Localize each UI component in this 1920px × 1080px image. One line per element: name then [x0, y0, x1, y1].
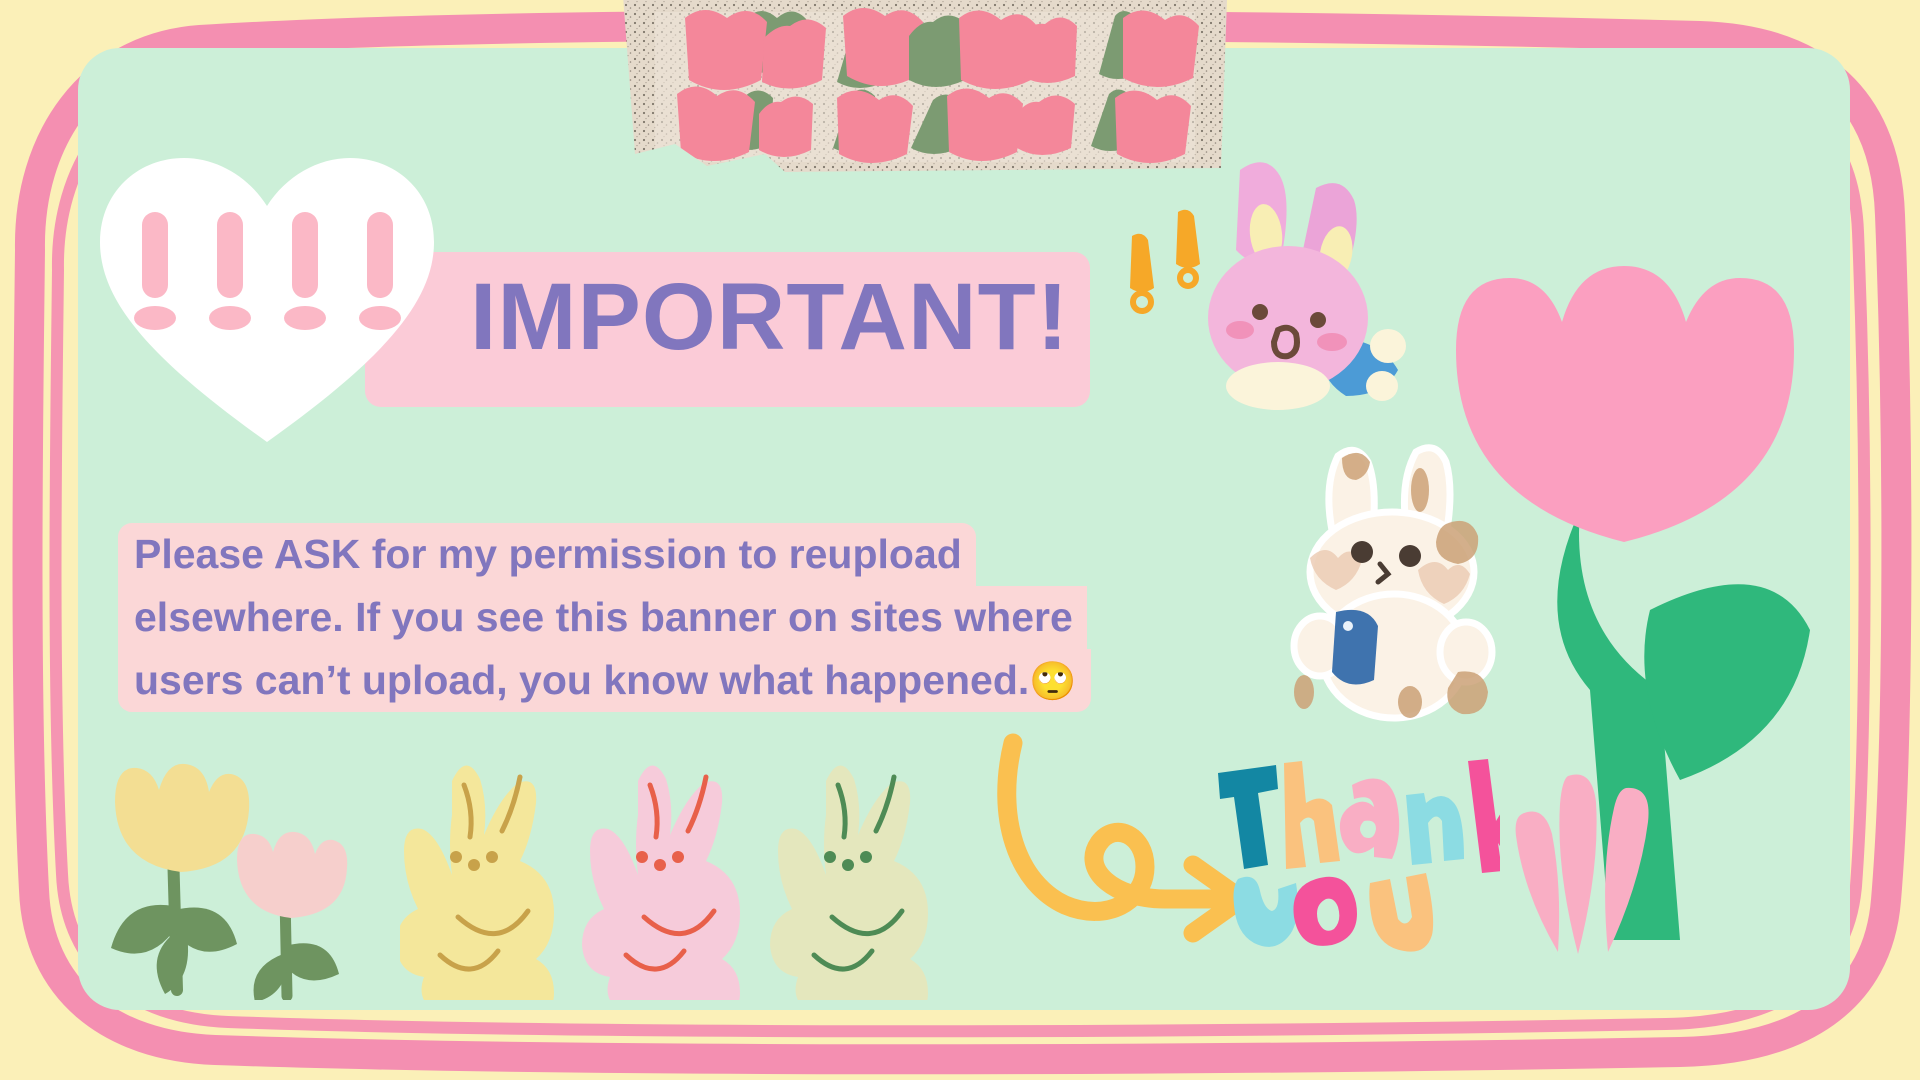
message-line-3-text: users can’t upload, you know what happen…: [134, 657, 1029, 703]
letter-a: [1340, 779, 1399, 859]
letter-o: [1293, 877, 1357, 946]
message-line-2: elsewhere. If you see this banner on sit…: [118, 586, 1087, 649]
bunny-cookie-green: [770, 765, 928, 1000]
letter-u: [1369, 873, 1433, 952]
permission-message: Please ASK for my permission to reupload…: [118, 523, 1148, 712]
message-line-1: Please ASK for my permission to reupload: [118, 523, 976, 586]
washi-tape-tulips-sticker: [615, 0, 1235, 179]
banner-canvas: IMPORTANT! Please ASK for my permission …: [0, 0, 1920, 1080]
letter-h: [1284, 761, 1340, 869]
thank-you-lettering: [1210, 755, 1500, 955]
cream-bunny-with-phone-sticker: [1280, 440, 1510, 730]
letter-y: [1234, 877, 1298, 947]
bunny-cookie-row: [400, 745, 960, 1000]
mini-tulips-sticker: [85, 750, 385, 1000]
letter-k: [1468, 759, 1500, 873]
letter-T: [1218, 765, 1278, 869]
tulip-petals-sticker: [1500, 770, 1680, 990]
bunny-cookie-pink: [582, 765, 740, 1000]
rolling-eyes-emoji: 🙄: [1029, 661, 1076, 703]
letter-n: [1406, 793, 1464, 865]
white-heart-exclamations-icon: [92, 150, 442, 450]
message-line-3: users can’t upload, you know what happen…: [118, 649, 1091, 712]
phone-icon: [1332, 610, 1378, 685]
pink-bunny-with-blue-bow-sticker: [1120, 150, 1420, 460]
page-title: IMPORTANT!: [470, 270, 1069, 365]
bunny-cookie-yellow: [400, 765, 554, 1000]
